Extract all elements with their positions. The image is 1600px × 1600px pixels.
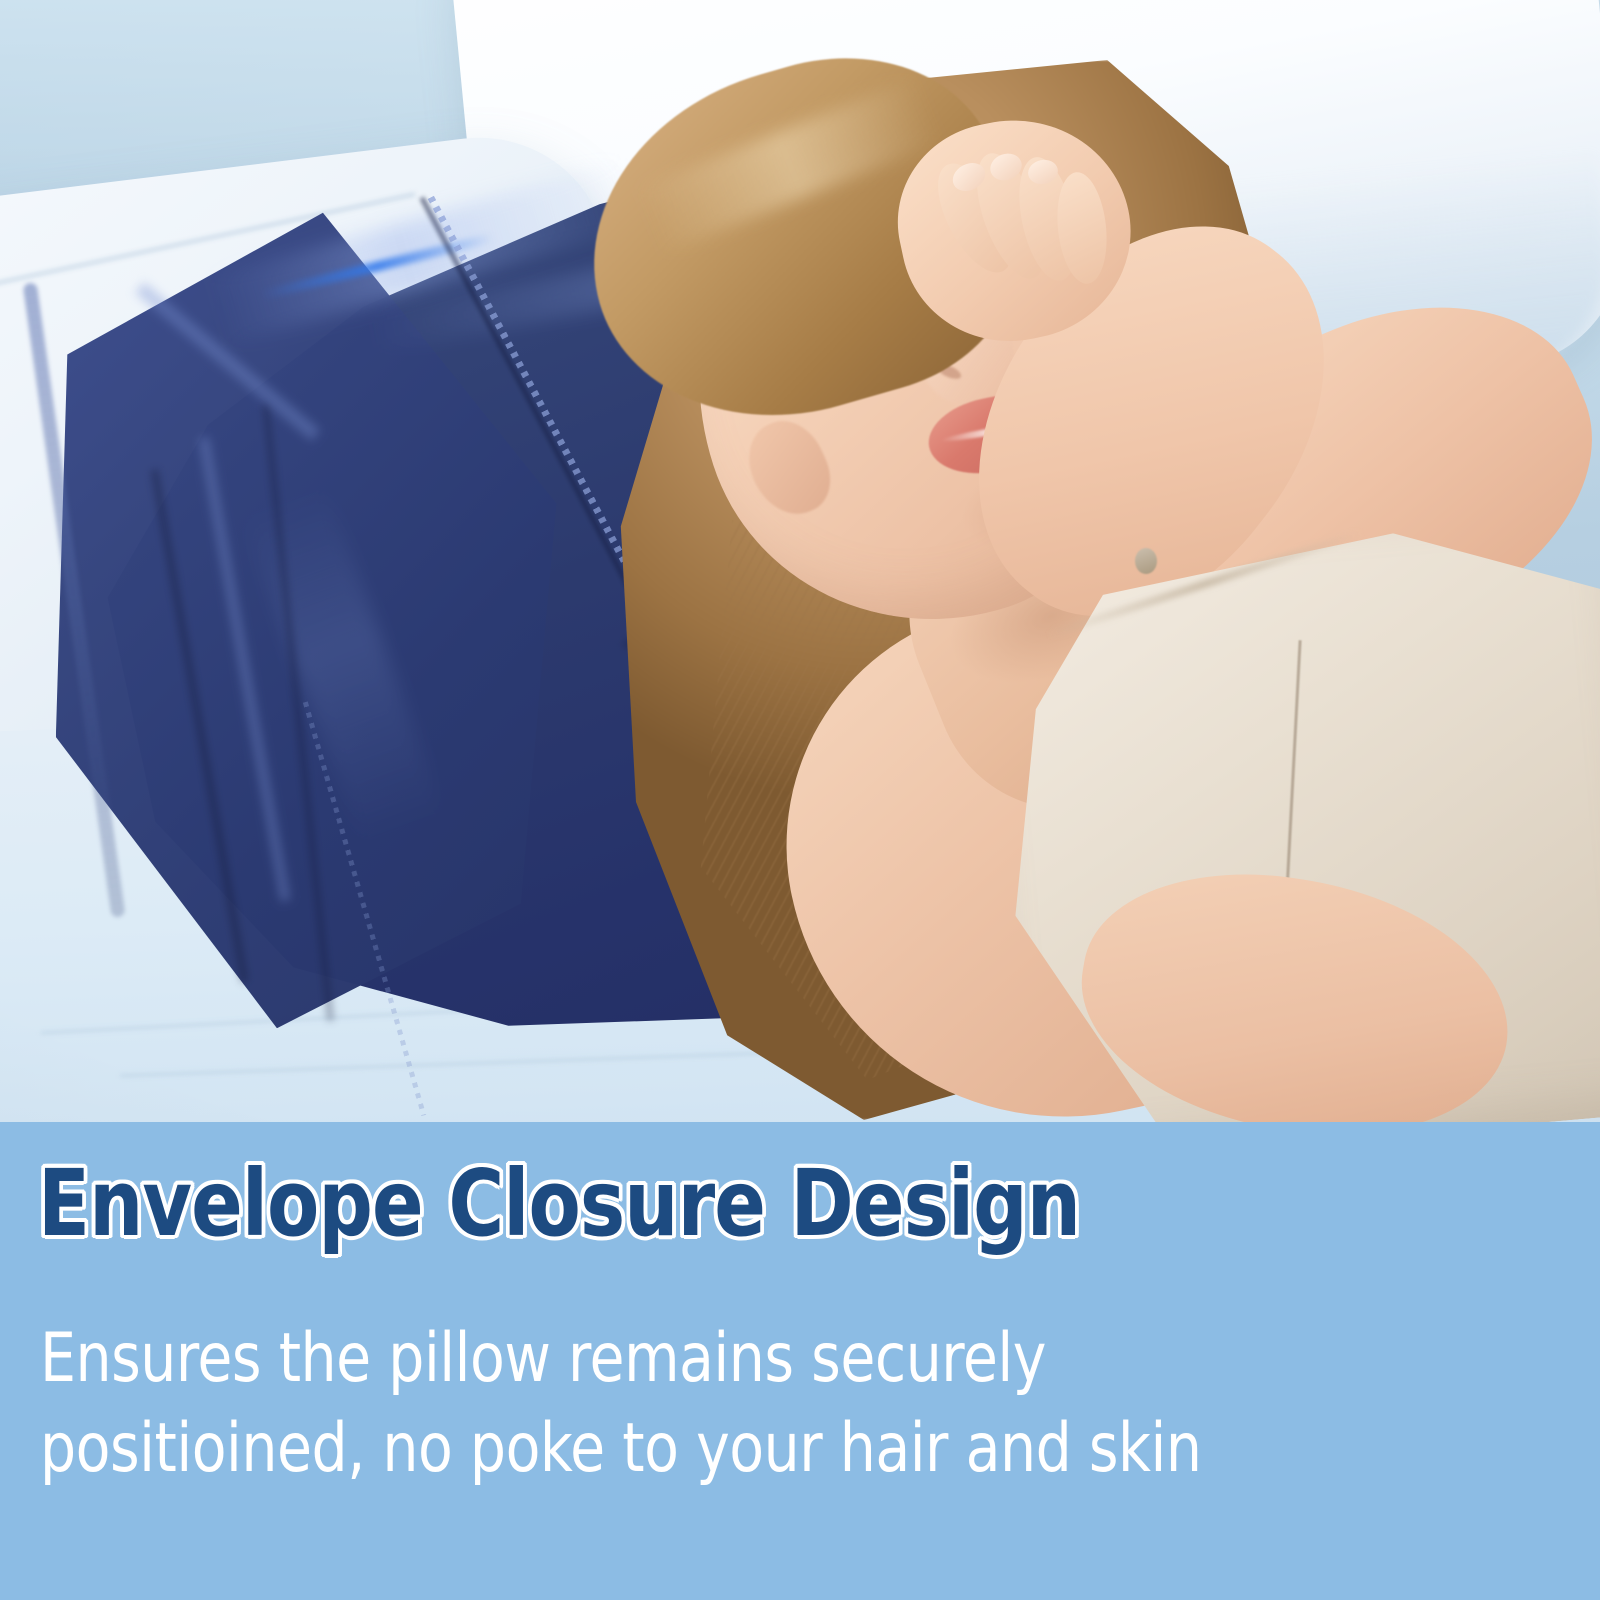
camisole-strap-detail <box>1135 548 1157 574</box>
feature-banner: Envelope Closure Design Ensures the pill… <box>0 1122 1600 1600</box>
sleeping-woman <box>0 0 1600 1122</box>
feature-subtitle-line-2: positioined, no poke to your hair and sk… <box>40 1404 1389 1494</box>
feature-subtitle-line-1: Ensures the pillow remains securely <box>40 1314 1389 1404</box>
feature-headline: Envelope Closure Design <box>38 1158 1080 1250</box>
feature-subtitle: Ensures the pillow remains securely posi… <box>40 1314 1389 1495</box>
lifestyle-photo <box>0 0 1600 1122</box>
product-feature-card: Envelope Closure Design Ensures the pill… <box>0 0 1600 1600</box>
